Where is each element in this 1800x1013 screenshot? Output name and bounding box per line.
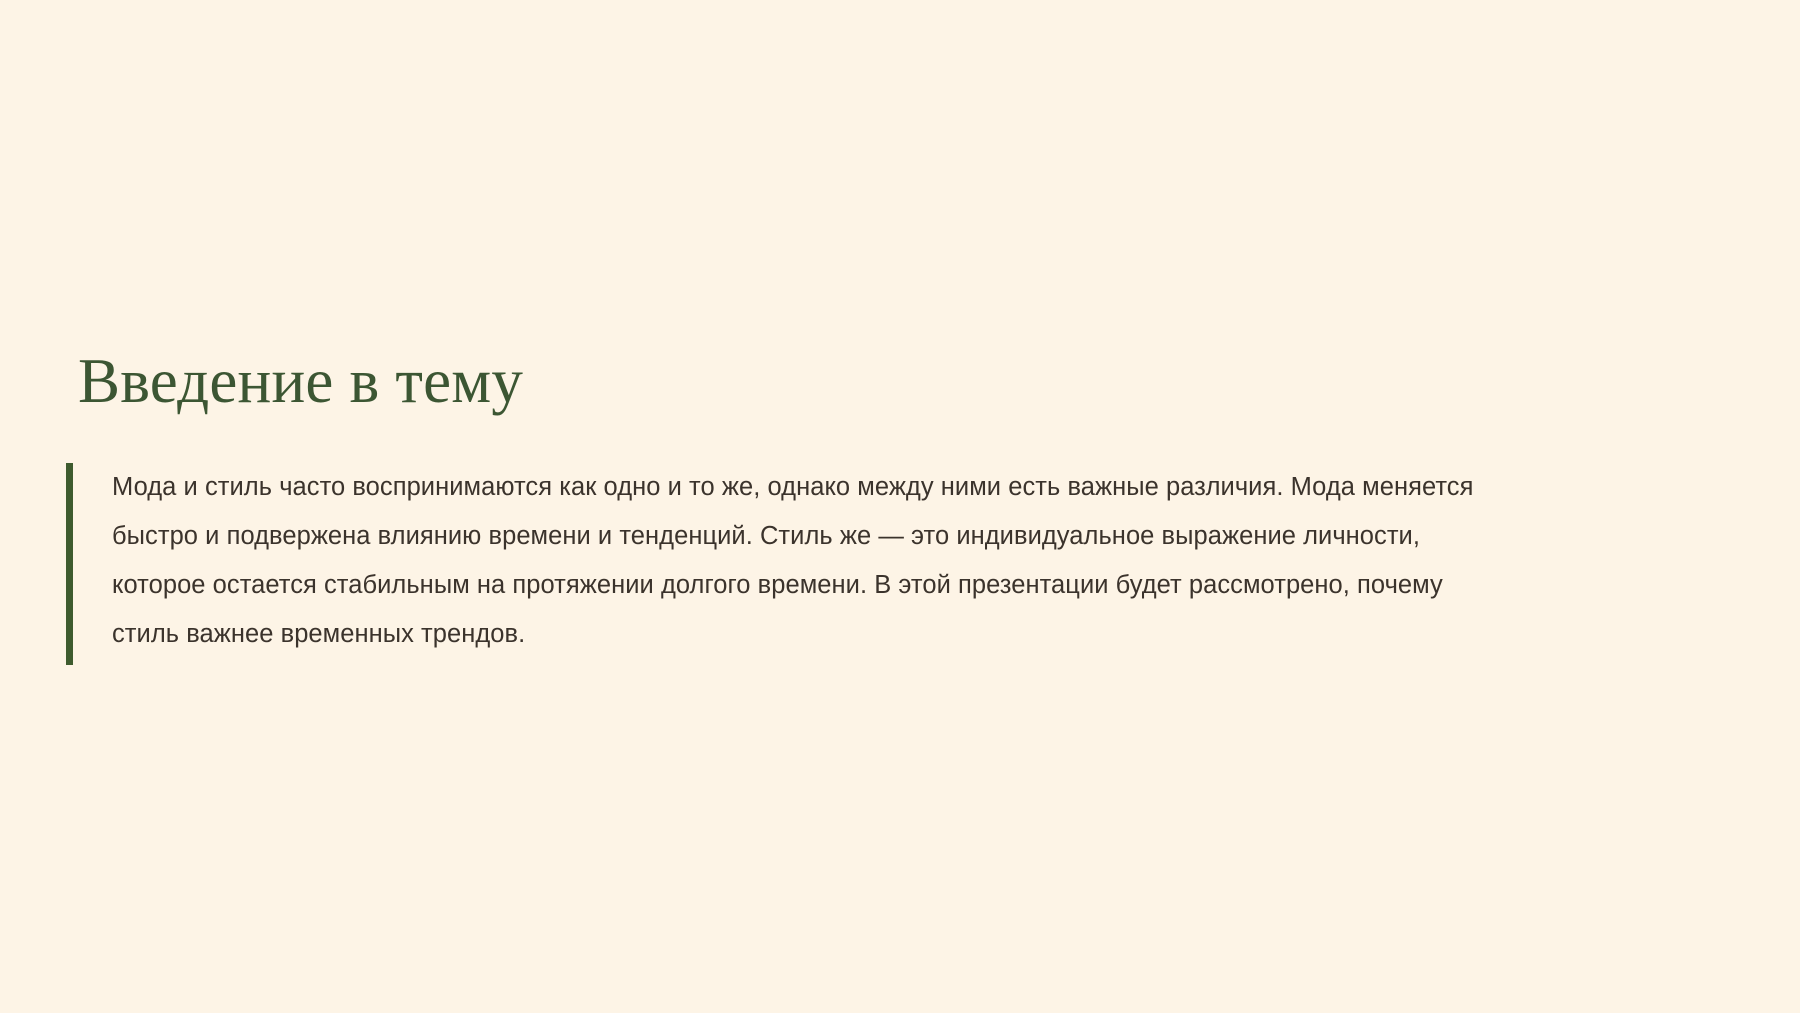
presentation-slide: Введение в тему Мода и стиль часто воспр… (0, 0, 1800, 1013)
slide-body-paragraph: Мода и стиль часто воспринимаются как од… (112, 463, 1486, 659)
body-text-container: Мода и стиль часто воспринимаются как од… (73, 463, 1486, 665)
accent-bar (66, 463, 73, 665)
slide-title: Введение в тему (78, 348, 523, 415)
body-block: Мода и стиль часто воспринимаются как од… (66, 463, 1486, 665)
